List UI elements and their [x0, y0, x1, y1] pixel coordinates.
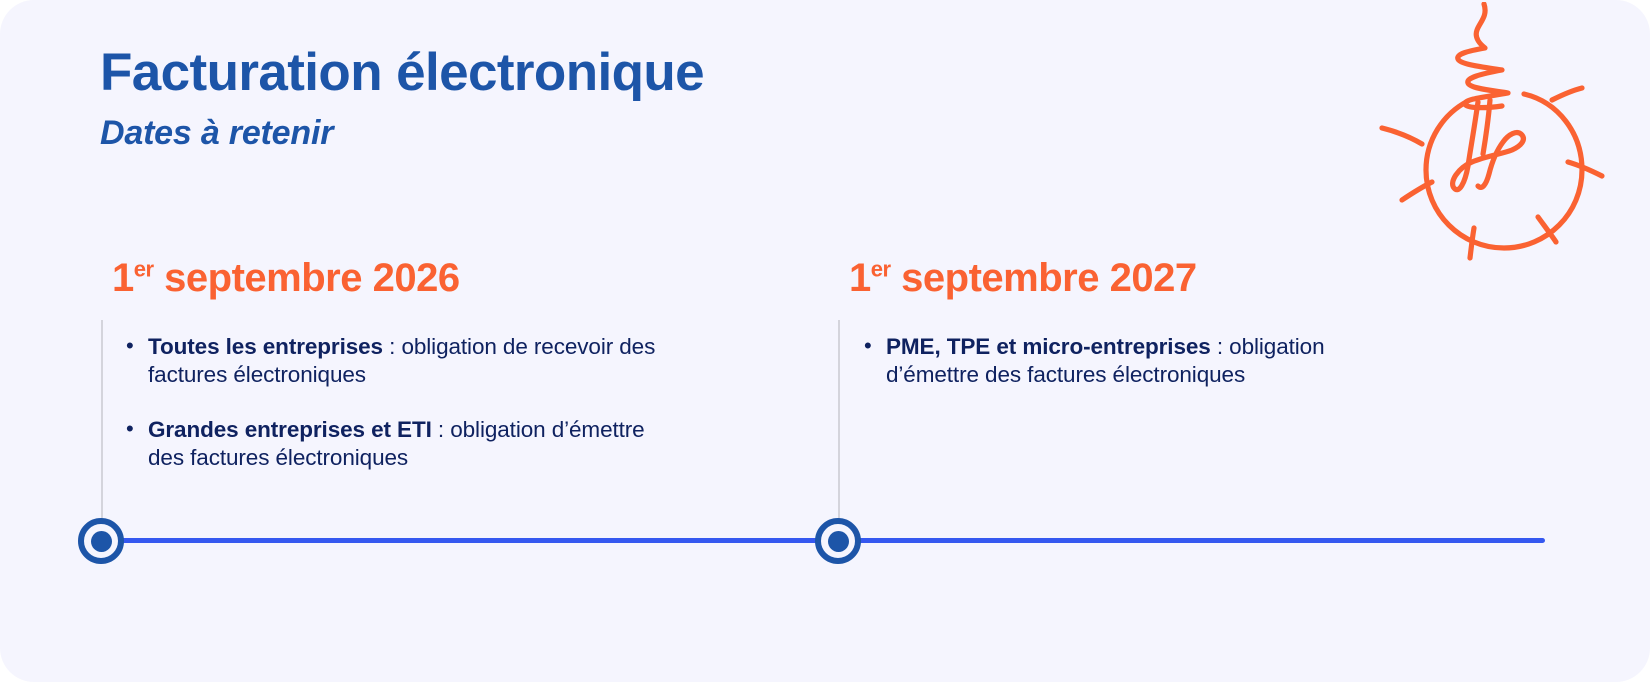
lightbulb-doodle-icon [1302, 2, 1632, 264]
milestone-marker-core [828, 531, 849, 552]
milestone-marker-2027[interactable] [815, 518, 861, 564]
milestone-date-2027: 1er septembre 2027 [849, 258, 1197, 298]
milestone-connector-line [838, 320, 840, 535]
infographic-card: Facturation électronique Dates à retenir [0, 0, 1650, 682]
list-item-lead: PME, TPE et micro-entreprises [886, 334, 1211, 359]
date-month-year: septembre 2027 [891, 256, 1197, 300]
date-ordinal-suffix: er [871, 257, 891, 282]
list-item: PME, TPE et micro-entreprises : obligati… [858, 333, 1328, 390]
timeline-milestone-2027: 1er septembre 2027 PME, TPE et micro-ent… [0, 0, 800, 682]
milestone-bullet-list-2027: PME, TPE et micro-entreprises : obligati… [858, 333, 1328, 390]
date-day: 1 [849, 256, 871, 300]
